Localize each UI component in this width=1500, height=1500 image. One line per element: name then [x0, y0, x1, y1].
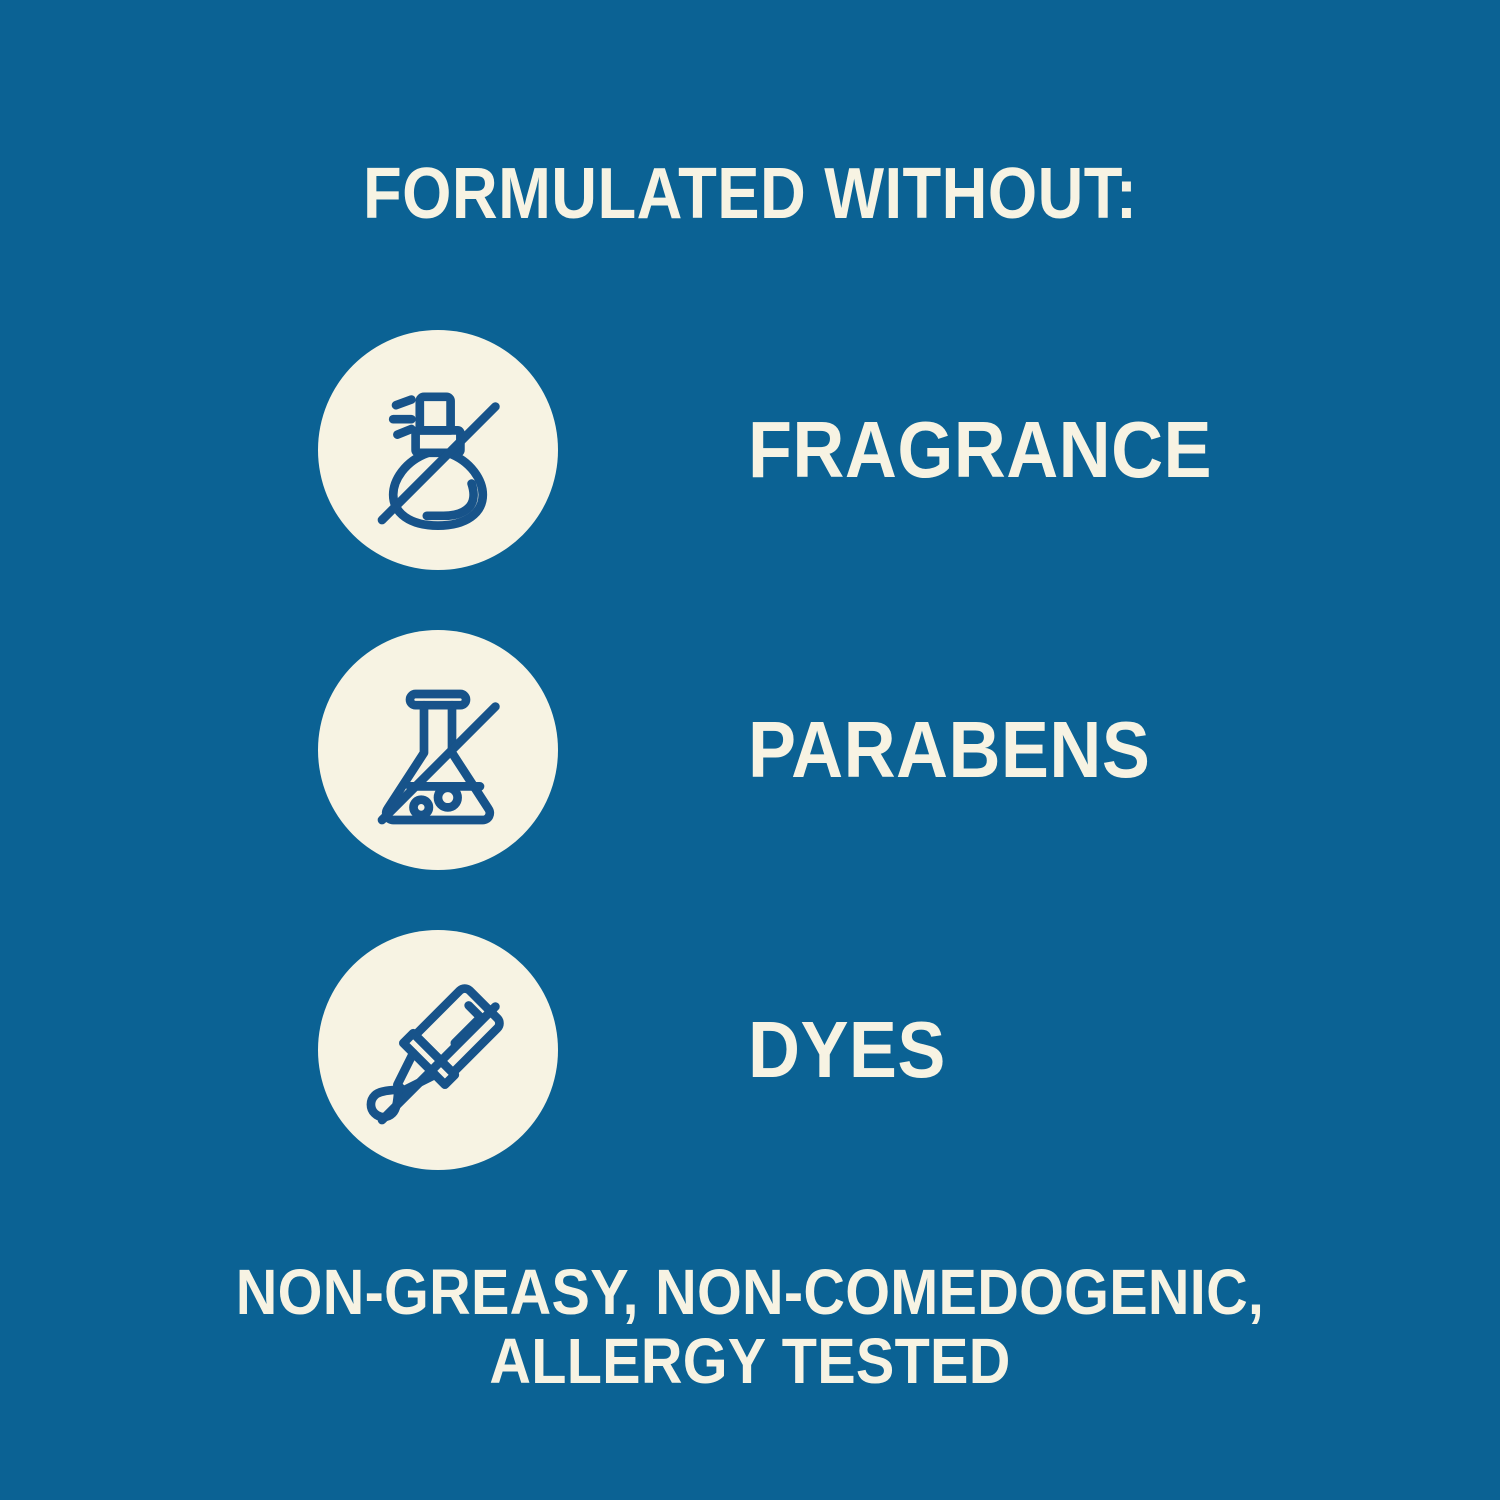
list-item-label: DYES	[748, 1010, 946, 1090]
footer-claims: NON-GREASY, NON-COMEDOGENIC, ALLERGY TES…	[75, 1258, 1425, 1396]
list-item: DYES	[318, 930, 1418, 1170]
list-item: FRAGRANCE	[318, 330, 1418, 570]
no-dropper-icon	[318, 930, 558, 1170]
footer-line-1: NON-GREASY, NON-COMEDOGENIC,	[75, 1258, 1425, 1327]
list-item: PARABENS	[318, 630, 1418, 870]
no-perfume-bottle-icon	[318, 330, 558, 570]
footer-line-2: ALLERGY TESTED	[75, 1327, 1425, 1396]
list-item-label: FRAGRANCE	[748, 410, 1212, 490]
claims-panel: FORMULATED WITHOUT:	[0, 0, 1500, 1500]
no-flask-icon	[318, 630, 558, 870]
list-item-label: PARABENS	[748, 710, 1150, 790]
